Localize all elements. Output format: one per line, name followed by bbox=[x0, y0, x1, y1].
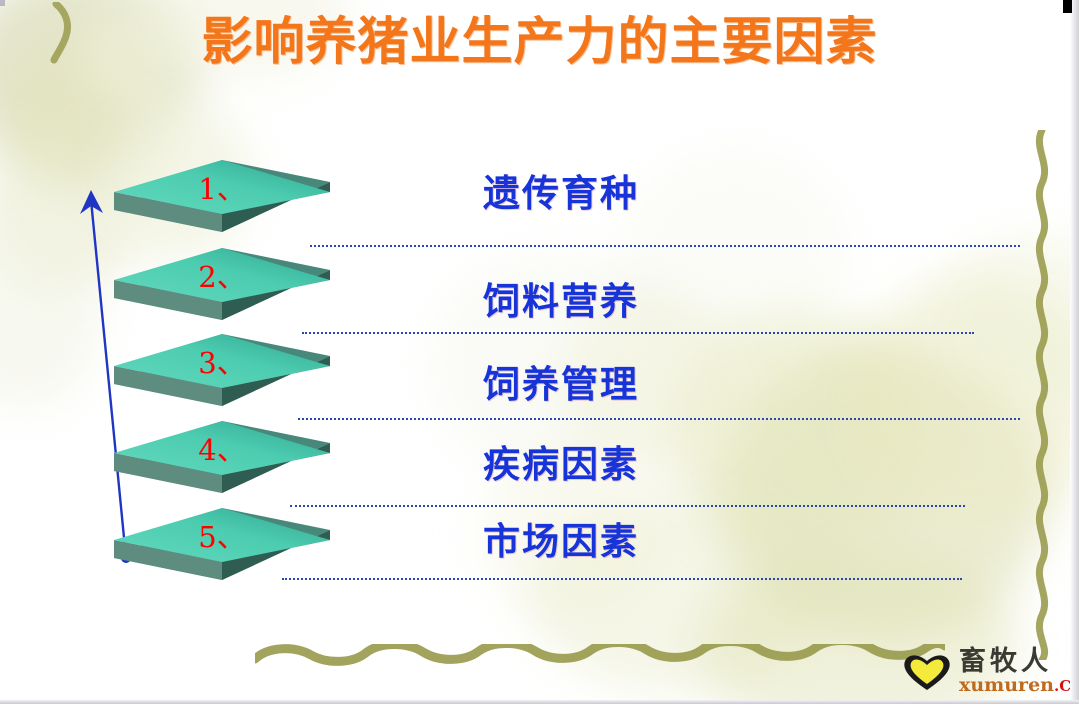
layer-slab-1[interactable]: 1、 bbox=[114, 160, 330, 256]
heart-icon bbox=[901, 652, 953, 692]
layer-slab-4[interactable]: 4、 bbox=[114, 421, 330, 517]
slide-canvas: 影响养猪业生产力的主要因素 1、 bbox=[0, 0, 1079, 704]
top-right-marker bbox=[1063, 0, 1072, 13]
factor-label-5: 市场因素 bbox=[483, 520, 639, 564]
site-logo[interactable]: 畜牧人 xumuren.COM bbox=[897, 648, 1073, 698]
factor-label-2: 饲料营养 bbox=[483, 280, 639, 324]
right-scrollbar-gutter[interactable] bbox=[1070, 0, 1079, 704]
page-title: 影响养猪业生产力的主要因素 bbox=[0, 12, 1079, 74]
separator-line-5 bbox=[282, 578, 962, 580]
factor-label-4: 疾病因素 bbox=[483, 443, 639, 487]
separator-line-3 bbox=[298, 418, 1020, 420]
layer-slab-5[interactable]: 5、 bbox=[114, 508, 330, 604]
separator-line-2 bbox=[302, 332, 974, 334]
factor-label-1: 遗传育种 bbox=[483, 172, 639, 216]
logo-domain-text: xumuren.COM bbox=[959, 675, 1079, 697]
separator-line-4 bbox=[290, 505, 965, 507]
bottom-edge-gutter bbox=[0, 700, 1079, 704]
decorative-squiggle-vertical-icon bbox=[1027, 130, 1057, 660]
logo-domain-name: xumuren bbox=[959, 674, 1054, 696]
layer-slab-3[interactable]: 3、 bbox=[114, 334, 330, 430]
factor-label-3: 饲养管理 bbox=[483, 363, 639, 407]
top-left-marker bbox=[0, 0, 5, 6]
separator-line-1 bbox=[310, 245, 1020, 247]
decorative-squiggle-horizontal-icon bbox=[255, 644, 945, 666]
layer-slab-2[interactable]: 2、 bbox=[114, 248, 330, 344]
